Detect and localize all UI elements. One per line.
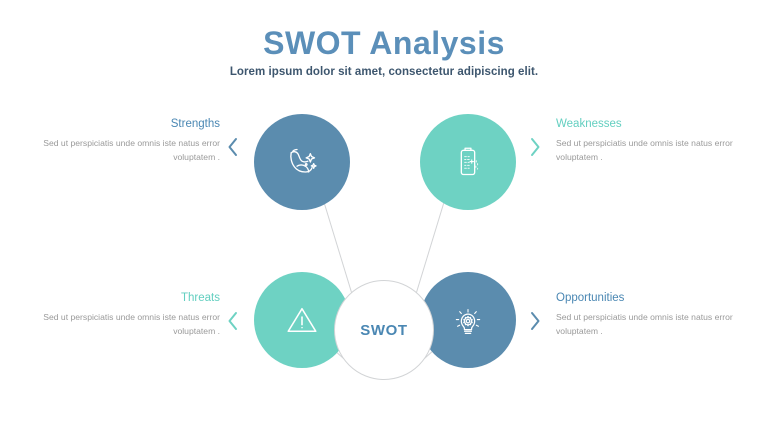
swot-text-threats: Threats Sed ut perspiciatis unde omnis i… [40,292,220,339]
chevron-right-opportunities[interactable] [528,310,542,332]
flexed-bicep-icon [282,142,322,182]
warning-triangle-icon [282,300,322,340]
heading-strengths: Strengths [40,118,220,132]
swot-center-circle: SWOT [334,280,434,380]
chevron-left-threats[interactable] [226,310,240,332]
heading-threats: Threats [40,292,220,306]
swot-node-weaknesses[interactable] [420,114,516,210]
swot-center-label: SWOT [360,322,407,339]
chevron-right-icon [528,310,542,332]
swot-node-strengths[interactable] [254,114,350,210]
body-opportunities: Sed ut perspiciatis unde omnis iste natu… [556,311,736,339]
lightbulb-gear-icon [448,300,488,340]
swot-node-opportunities[interactable] [420,272,516,368]
body-strengths: Sed ut perspiciatis unde omnis iste natu… [40,137,220,165]
swot-text-weaknesses: Weaknesses Sed ut perspiciatis unde omni… [556,118,736,165]
chevron-right-weaknesses[interactable] [528,136,542,158]
body-weaknesses: Sed ut perspiciatis unde omnis iste natu… [556,137,736,165]
low-battery-icon [448,142,488,182]
chevron-left-icon [226,310,240,332]
heading-weaknesses: Weaknesses [556,118,736,132]
chevron-right-icon [528,136,542,158]
heading-opportunities: Opportunities [556,292,736,306]
page-title: SWOT Analysis [0,26,768,61]
body-threats: Sed ut perspiciatis unde omnis iste natu… [40,311,220,339]
page-header: SWOT Analysis Lorem ipsum dolor sit amet… [0,26,768,78]
page-subtitle: Lorem ipsum dolor sit amet, consectetur … [0,66,768,78]
swot-text-strengths: Strengths Sed ut perspiciatis unde omnis… [40,118,220,165]
chevron-left-icon [226,136,240,158]
swot-text-opportunities: Opportunities Sed ut perspiciatis unde o… [556,292,736,339]
chevron-left-strengths[interactable] [226,136,240,158]
